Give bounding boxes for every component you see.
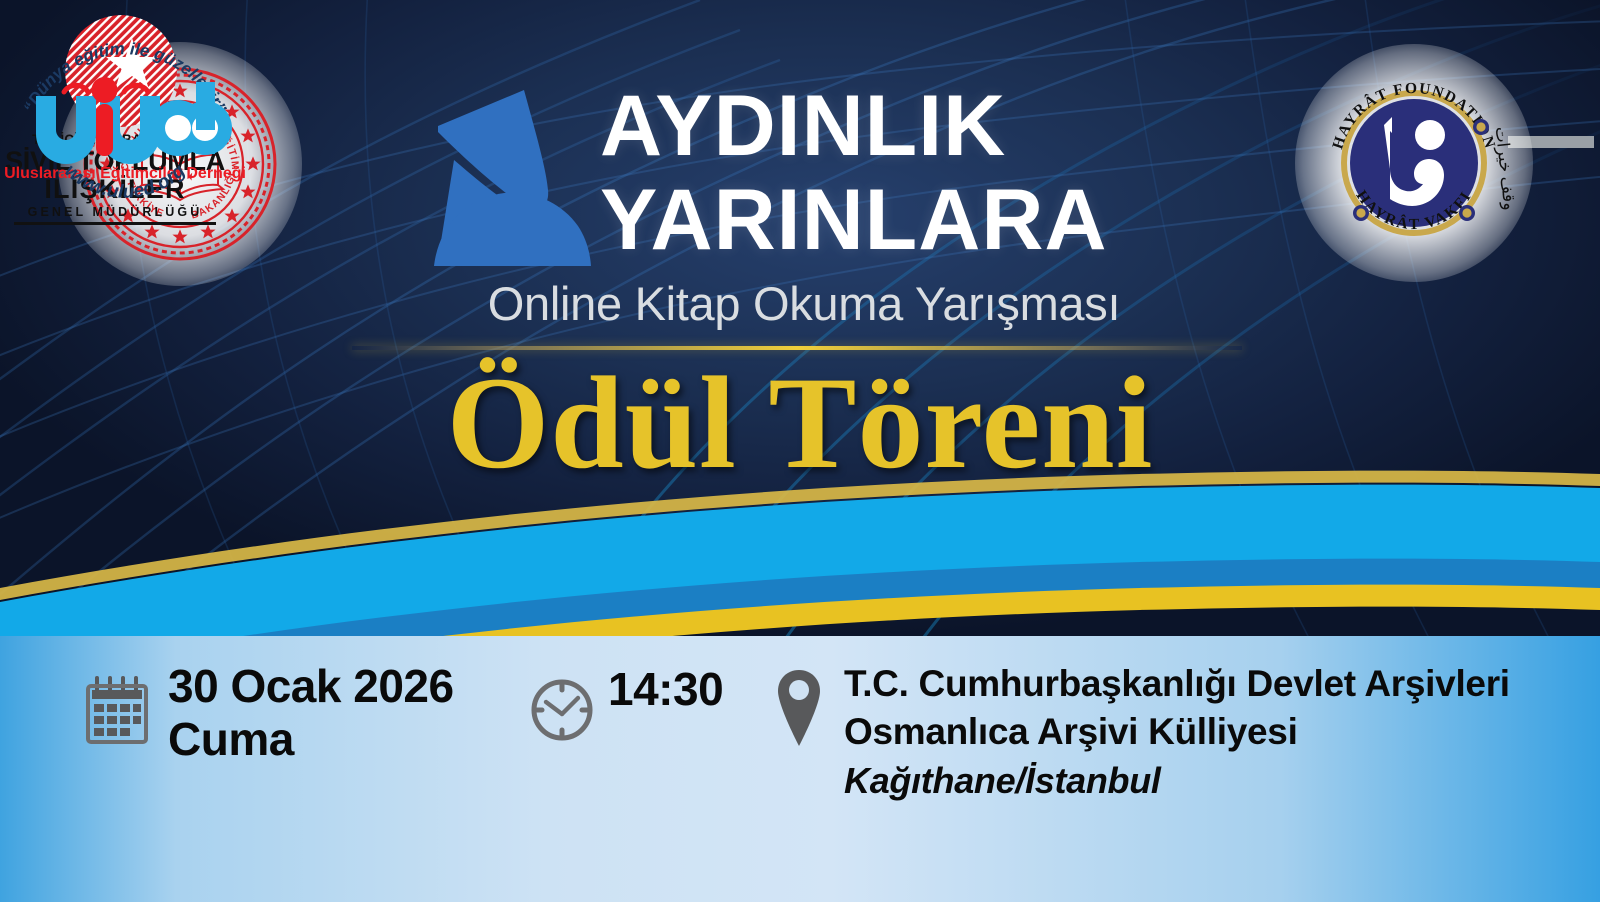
- event-date-line1: 30 Ocak 2026: [168, 660, 454, 712]
- brand-subtitle: Online Kitap Okuma Yarışması: [404, 276, 1204, 331]
- event-info-row: 30 Ocak 2026 Cuma 14:30: [0, 636, 1600, 902]
- brand-wordmark: AYDINLIK YARINLARA: [600, 84, 1200, 263]
- map-pin-icon: [776, 668, 822, 750]
- sivil-toplum-rule: [14, 222, 216, 225]
- event-info-bar: 30 Ocak 2026 Cuma 14:30: [0, 636, 1600, 902]
- event-poster: CUMHURİYETİ MİLLİ EĞİTİM TÜRKİYE BAKANLI…: [0, 0, 1600, 902]
- brand-line-1: AYDINLIK: [600, 84, 1200, 168]
- hayrat-logo-glow: HAYRÂT FOUNDATION HAYRÂT VAKFI وقف خيرات: [1295, 44, 1533, 282]
- event-venue: T.C. Cumhurbaşkanlığı Devlet Arşivleri O…: [844, 660, 1544, 805]
- hayrat-arabic-text: وقف خيرات: [1491, 126, 1514, 212]
- ulued-logo-icon: “Dünya eğitim ile güzelleşir”: [0, 0, 250, 218]
- calendar-icon: [86, 674, 148, 744]
- event-date-line2: Cuma: [168, 713, 508, 766]
- mountain-sail-mark-icon: [424, 82, 604, 272]
- clock-icon: [528, 676, 596, 744]
- event-venue-line1: T.C. Cumhurbaşkanlığı Devlet: [844, 663, 1356, 704]
- event-venue-city: Kağıthane/İstanbul: [844, 758, 1544, 805]
- event-date: 30 Ocak 2026 Cuma: [168, 660, 508, 767]
- event-time: 14:30: [608, 662, 723, 716]
- hayrat-vakfi-seal-icon: HAYRÂT FOUNDATION HAYRÂT VAKFI وقف خيرات: [1314, 63, 1514, 263]
- ulued-tagline: Uluslararası Eğitimciler Derneği: [4, 165, 246, 182]
- brand-line-2: YARINLARA: [600, 178, 1200, 262]
